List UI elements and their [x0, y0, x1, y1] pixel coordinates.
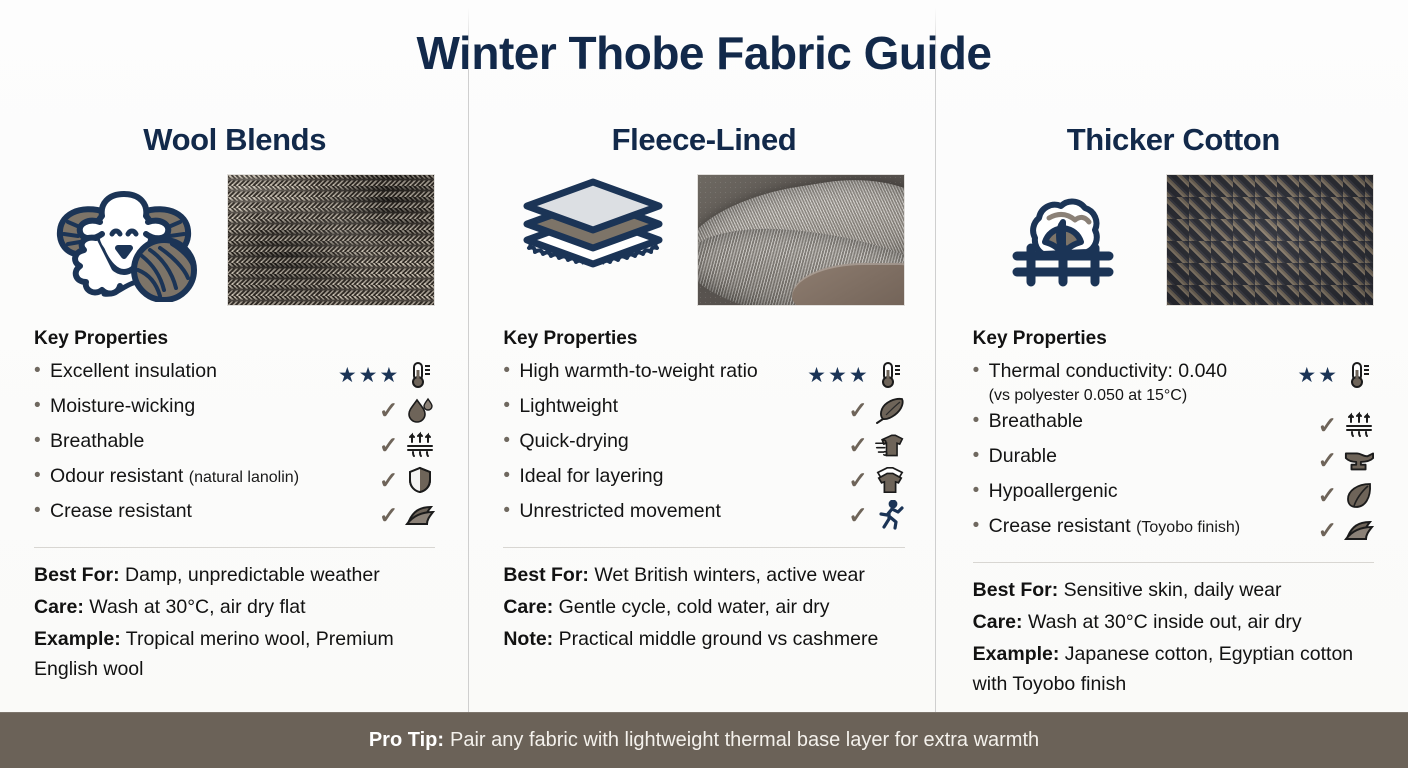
list-item: • Crease resistant (Toyobo finish) ✓ [973, 513, 1374, 548]
feather-icon [875, 395, 905, 425]
key-properties-heading: Key Properties [34, 328, 435, 350]
ram-wool-yarn-icon [34, 172, 214, 308]
list-item: • Moisture-wicking ✓ [34, 393, 435, 428]
list-item: • Quick-drying ✓ [503, 428, 904, 463]
bullet-icon: • [503, 358, 519, 384]
pro-tip-bar: Pro Tip: Pair any fabric with lightweigh… [0, 712, 1408, 768]
property-label: Lightweight [519, 393, 848, 419]
section-divider [973, 562, 1374, 563]
property-label: Crease resistant (Toyobo finish) [989, 513, 1318, 540]
property-marks: ✓ [848, 393, 904, 425]
check-icon: ✓ [848, 505, 867, 525]
rating-stars: ★★★ [807, 365, 867, 386]
layered-shirts-icon [875, 465, 905, 495]
property-marks: ✓ [848, 463, 904, 495]
check-icon: ✓ [379, 470, 398, 490]
meta-block: Best For: Wet British winters, active we… [503, 560, 904, 654]
breathable-airflow-icon [1344, 410, 1374, 440]
property-label: Moisture-wicking [50, 393, 379, 419]
meta-note: Note: Practical middle ground vs cashmer… [503, 624, 904, 654]
list-item: • Breathable ✓ [34, 428, 435, 463]
section-divider [34, 547, 435, 548]
property-label: Thermal conductivity: 0.040(vs polyester… [989, 358, 1298, 408]
bullet-icon: • [34, 358, 50, 384]
hero-row [973, 172, 1374, 308]
property-subline: (vs polyester 0.050 at 15°C) [989, 383, 1298, 408]
section-divider [503, 547, 904, 548]
list-item: • Crease resistant ✓ [34, 498, 435, 533]
property-marks: ✓ [379, 428, 435, 460]
check-icon: ✓ [379, 400, 398, 420]
pro-tip-label: Pro Tip: [369, 729, 444, 752]
column-thicker-cotton: Thicker Cotton [939, 112, 1408, 704]
thermometer-icon [1344, 360, 1374, 390]
property-marks: ✓ [1318, 408, 1374, 440]
meta-block: Best For: Sensitive skin, daily wear Car… [973, 575, 1374, 699]
bullet-icon: • [503, 498, 519, 524]
layered-fabric-icon [503, 172, 683, 308]
property-label: High warmth-to-weight ratio [519, 358, 807, 384]
list-item: • Breathable ✓ [973, 408, 1374, 443]
meta-best-for: Best For: Wet British winters, active we… [503, 560, 904, 590]
property-marks: ✓ [379, 463, 435, 495]
running-person-icon [875, 500, 905, 530]
property-label: Unrestricted movement [519, 498, 848, 524]
list-item: • Unrestricted movement ✓ [503, 498, 904, 533]
meta-best-for: Best For: Damp, unpredictable weather [34, 560, 435, 590]
meta-care: Care: Wash at 30°C, air dry flat [34, 592, 435, 622]
properties-list: • Excellent insulation ★★★ • Moisture-wi… [34, 358, 435, 533]
property-label: Crease resistant [50, 498, 379, 524]
check-icon: ✓ [1318, 415, 1337, 435]
property-label: Breathable [50, 428, 379, 454]
property-label: Durable [989, 443, 1318, 469]
page-title: Winter Thobe Fabric Guide [0, 26, 1408, 80]
list-item: • Excellent insulation ★★★ [34, 358, 435, 393]
basketweave-cotton-swatch [1166, 174, 1374, 306]
bullet-icon: • [503, 428, 519, 454]
property-marks: ✓ [1318, 443, 1374, 475]
bullet-icon: • [34, 463, 50, 489]
property-marks: ★★★ [807, 358, 904, 390]
folded-fabric-icon [1344, 515, 1374, 545]
thermometer-icon [875, 360, 905, 390]
list-item: • Durable ✓ [973, 443, 1374, 478]
fleece-fur-swatch [697, 174, 905, 306]
property-label: Excellent insulation [50, 358, 338, 384]
property-marks: ★★ [1297, 358, 1374, 390]
cotton-boll-icon [973, 172, 1153, 308]
property-label: Odour resistant (natural lanolin) [50, 463, 379, 490]
check-icon: ✓ [1318, 485, 1337, 505]
meta-best-for: Best For: Sensitive skin, daily wear [973, 575, 1374, 605]
meta-care: Care: Gentle cycle, cold water, air dry [503, 592, 904, 622]
check-icon: ✓ [848, 470, 867, 490]
property-label: Quick-drying [519, 428, 848, 454]
column-title: Wool Blends [34, 122, 435, 158]
hero-row [34, 172, 435, 308]
property-marks: ✓ [1318, 513, 1374, 545]
list-item: • High warmth-to-weight ratio ★★★ [503, 358, 904, 393]
thermometer-icon [405, 360, 435, 390]
shirt-drying-icon [875, 430, 905, 460]
bullet-icon: • [973, 408, 989, 434]
breathable-airflow-icon [405, 430, 435, 460]
property-note: (Toyobo finish) [1136, 519, 1240, 536]
meta-care: Care: Wash at 30°C inside out, air dry [973, 607, 1374, 637]
bullet-icon: • [34, 498, 50, 524]
list-item: • Lightweight ✓ [503, 393, 904, 428]
property-marks: ✓ [379, 393, 435, 425]
rating-stars: ★★★ [338, 365, 398, 386]
key-properties-heading: Key Properties [503, 328, 904, 350]
meta-example: Example: Japanese cotton, Egyptian cotto… [973, 639, 1374, 699]
property-marks: ✓ [379, 498, 435, 530]
list-item: • Odour resistant (natural lanolin) ✓ [34, 463, 435, 498]
bullet-icon: • [973, 443, 989, 469]
check-icon: ✓ [848, 400, 867, 420]
water-droplet-icon [405, 395, 435, 425]
column-title: Fleece-Lined [503, 122, 904, 158]
check-icon: ✓ [1318, 450, 1337, 470]
properties-list: • Thermal conductivity: 0.040(vs polyest… [973, 358, 1374, 548]
bullet-icon: • [503, 463, 519, 489]
rating-stars: ★★ [1297, 365, 1337, 386]
column-title: Thicker Cotton [973, 122, 1374, 158]
bullet-icon: • [973, 513, 989, 539]
infographic-page: Winter Thobe Fabric Guide Wool Blends [0, 0, 1408, 768]
bullet-icon: • [973, 358, 989, 384]
pro-tip-text: Pair any fabric with lightweight thermal… [450, 729, 1039, 752]
hero-row [503, 172, 904, 308]
check-icon: ✓ [379, 505, 398, 525]
property-label: Ideal for layering [519, 463, 848, 489]
property-label: Hypoallergenic [989, 478, 1318, 504]
property-marks: ✓ [1318, 478, 1374, 510]
meta-example: Example: Tropical merino wool, Premium E… [34, 624, 435, 684]
shield-icon [405, 465, 435, 495]
property-note: (natural lanolin) [189, 469, 299, 486]
columns-container: Wool Blends [0, 112, 1408, 704]
column-fleece-lined: Fleece-Lined [469, 112, 938, 704]
check-icon: ✓ [379, 435, 398, 455]
bullet-icon: • [973, 478, 989, 504]
property-marks: ★★★ [338, 358, 435, 390]
check-icon: ✓ [1318, 520, 1337, 540]
bullet-icon: • [34, 428, 50, 454]
check-icon: ✓ [848, 435, 867, 455]
bullet-icon: • [34, 393, 50, 419]
folded-fabric-icon [405, 500, 435, 530]
herringbone-wool-swatch [227, 174, 435, 306]
property-marks: ✓ [848, 498, 904, 530]
key-properties-heading: Key Properties [973, 328, 1374, 350]
property-label: Breathable [989, 408, 1318, 434]
leaf-icon [1344, 480, 1374, 510]
meta-block: Best For: Damp, unpredictable weather Ca… [34, 560, 435, 684]
column-wool-blends: Wool Blends [0, 112, 469, 704]
bullet-icon: • [503, 393, 519, 419]
properties-list: • High warmth-to-weight ratio ★★★ • Ligh… [503, 358, 904, 533]
list-item: • Thermal conductivity: 0.040(vs polyest… [973, 358, 1374, 408]
list-item: • Hypoallergenic ✓ [973, 478, 1374, 513]
anvil-icon [1344, 445, 1374, 475]
property-marks: ✓ [848, 428, 904, 460]
list-item: • Ideal for layering ✓ [503, 463, 904, 498]
